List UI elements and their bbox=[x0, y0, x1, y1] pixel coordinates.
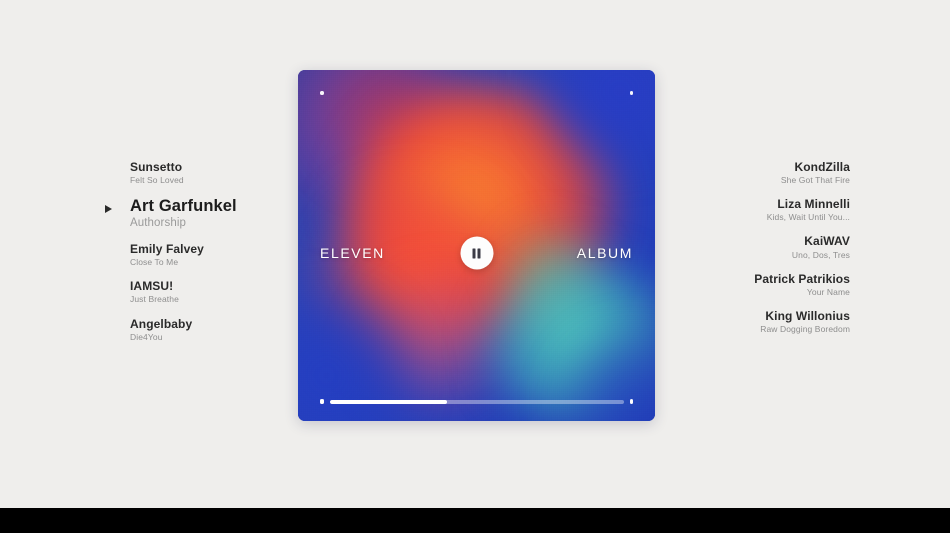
track-artist: Patrick Patrikios bbox=[690, 272, 850, 286]
track-song: Authorship bbox=[130, 216, 280, 231]
track-song: Raw Dogging Boredom bbox=[690, 324, 850, 335]
progress-fill bbox=[330, 400, 448, 404]
track-artist: Angelbaby bbox=[130, 317, 280, 331]
list-item[interactable]: King Willonius Raw Dogging Boredom bbox=[690, 309, 850, 335]
track-song: Your Name bbox=[690, 287, 850, 298]
track-song: Just Breathe bbox=[130, 294, 280, 305]
pause-button[interactable] bbox=[460, 237, 493, 270]
progress-slider[interactable] bbox=[330, 400, 624, 404]
progress-bar-row bbox=[320, 400, 633, 404]
list-item-active[interactable]: Art Garfunkel Authorship bbox=[100, 197, 280, 231]
album-label-left: ELEVEN bbox=[320, 245, 385, 261]
track-artist: IAMSU! bbox=[130, 279, 280, 293]
music-player: Sunsetto Felt So Loved Art Garfunkel Aut… bbox=[0, 0, 950, 508]
track-song: Uno, Dos, Tres bbox=[690, 250, 850, 261]
pause-icon-bar-left bbox=[473, 248, 476, 258]
playlist-left: Sunsetto Felt So Loved Art Garfunkel Aut… bbox=[100, 160, 280, 343]
album-artwork[interactable]: ELEVEN ALBUM bbox=[298, 70, 655, 421]
list-item[interactable]: Angelbaby Die4You bbox=[100, 317, 280, 343]
pause-icon-bar-right bbox=[478, 248, 481, 258]
app-root: Sunsetto Felt So Loved Art Garfunkel Aut… bbox=[0, 0, 950, 533]
track-song: Close To Me bbox=[130, 257, 280, 268]
corner-dot-top-right bbox=[630, 91, 634, 95]
play-triangle-icon bbox=[105, 205, 112, 213]
artwork-center-row: ELEVEN ALBUM bbox=[298, 233, 655, 273]
track-artist: Art Garfunkel bbox=[130, 197, 280, 216]
corner-dot-top-left bbox=[320, 91, 324, 95]
track-artist: KaiWAV bbox=[690, 234, 850, 248]
track-artist: King Willonius bbox=[690, 309, 850, 323]
playlist-right: KondZilla She Got That Fire Liza Minnell… bbox=[690, 160, 850, 335]
track-artist: KondZilla bbox=[690, 160, 850, 174]
list-item[interactable]: Sunsetto Felt So Loved bbox=[100, 160, 280, 186]
progress-start-dot bbox=[320, 400, 324, 404]
list-item[interactable]: Patrick Patrikios Your Name bbox=[690, 272, 850, 298]
progress-end-dot bbox=[630, 400, 634, 404]
track-artist: Emily Falvey bbox=[130, 242, 280, 256]
track-song: Kids, Wait Until You... bbox=[690, 212, 850, 223]
list-item[interactable]: IAMSU! Just Breathe bbox=[100, 279, 280, 305]
list-item[interactable]: KaiWAV Uno, Dos, Tres bbox=[690, 234, 850, 260]
track-artist: Liza Minnelli bbox=[690, 197, 850, 211]
list-item[interactable]: Emily Falvey Close To Me bbox=[100, 242, 280, 268]
track-song: Felt So Loved bbox=[130, 175, 280, 186]
track-song: Die4You bbox=[130, 332, 280, 343]
list-item[interactable]: KondZilla She Got That Fire bbox=[690, 160, 850, 186]
album-label-right: ALBUM bbox=[577, 245, 633, 261]
list-item[interactable]: Liza Minnelli Kids, Wait Until You... bbox=[690, 197, 850, 223]
track-song: She Got That Fire bbox=[690, 175, 850, 186]
track-artist: Sunsetto bbox=[130, 160, 280, 174]
letterbox-bottom bbox=[0, 508, 950, 533]
